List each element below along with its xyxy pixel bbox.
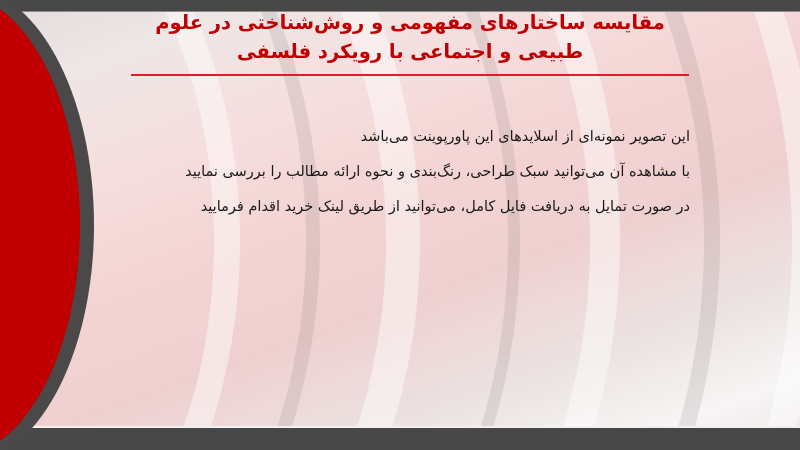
slide-body-text: این تصویر نمونه‌ای از اسلایدهای این پاور… <box>110 120 690 225</box>
title-underline-rule <box>131 74 689 76</box>
slide-title-line-2: طبیعی و اجتماعی با رویکرد فلسفی <box>120 37 700 66</box>
slide-body-line-1: این تصویر نمونه‌ای از اسلایدهای این پاور… <box>110 120 690 155</box>
slide-title: مقایسه ساختارهای مفهومی و روش‌شناختی در … <box>120 8 700 66</box>
presentation-slide: مقایسه ساختارهای مفهومی و روش‌شناختی در … <box>0 0 800 450</box>
slide-body-line-3: در صورت تمایل به دریافت فایل کامل، می‌تو… <box>110 190 690 225</box>
slide-frame-bottom-hairline <box>0 426 800 428</box>
slide-body-line-2: با مشاهده آن می‌توانید سبک طراحی، رنگ‌بن… <box>110 155 690 190</box>
slide-frame-bottom-band <box>0 428 800 450</box>
slide-title-line-1: مقایسه ساختارهای مفهومی و روش‌شناختی در … <box>120 8 700 37</box>
